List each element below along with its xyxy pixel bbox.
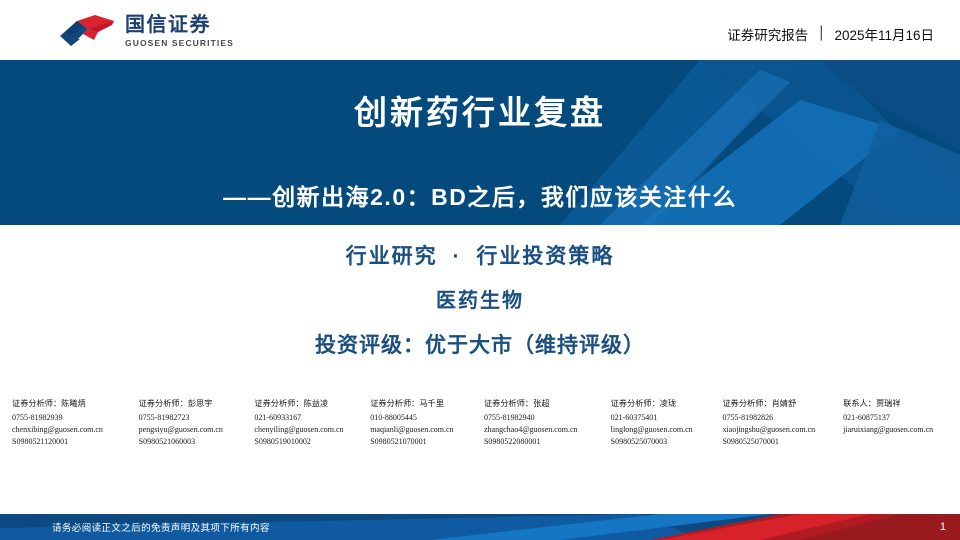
analyst-name: 马千里 xyxy=(419,399,444,408)
analyst-name: 陈曦炳 xyxy=(61,399,86,408)
analyst-role: 证券分析师： xyxy=(254,399,303,408)
analyst-license-code: S0980519010002 xyxy=(254,436,370,448)
analyst-name-line: 证券分析师：彭思宇 xyxy=(139,398,255,411)
analyst-license-code: S0980522080001 xyxy=(484,436,611,448)
investment-rating: 投资评级：优于大市（维持评级） xyxy=(0,329,960,359)
analyst-entry: 证券分析师：彭思宇 0755-81982723 pengsiyu@guosen.… xyxy=(139,398,255,449)
research-type-label: 行业研究 xyxy=(346,245,438,268)
report-type-label: 证券研究报告 xyxy=(727,24,808,44)
analyst-role: 证券分析师： xyxy=(484,399,533,408)
analyst-phone: 0755-81982939 xyxy=(12,412,139,424)
analyst-name-line: 证券分析师：凌珑 xyxy=(611,398,723,411)
analyst-email[interactable]: pengsiyu@guosen.com.cn xyxy=(139,424,255,436)
title-banner: 创新药行业复盘 ——创新出海2.0：BD之后，我们应该关注什么 xyxy=(0,60,960,225)
brand-logo: 国信证券 GUOSEN SECURITIES xyxy=(58,14,234,48)
analyst-entry: 联系人：贾瑞祥 021-60875137 jiaruixiang@guosen.… xyxy=(843,398,952,436)
brand-logo-text: 国信证券 GUOSEN SECURITIES xyxy=(125,15,234,48)
analyst-name: 凌珑 xyxy=(660,399,676,408)
header-divider: | xyxy=(819,24,823,42)
analyst-entry: 证券分析师：张超 0755-81982940 zhangchao4@guosen… xyxy=(484,398,611,449)
analyst-name-line: 联系人：贾瑞祥 xyxy=(843,398,952,411)
analyst-name-line: 证券分析师：张超 xyxy=(484,398,611,411)
guosen-logo-mark-icon xyxy=(58,14,116,48)
page-footer: 请务必阅读正文之后的免责声明及其项下所有内容 1 xyxy=(0,514,960,540)
analyst-role: 证券分析师： xyxy=(722,399,771,408)
analyst-phone: 021-60933167 xyxy=(254,412,370,424)
analyst-email[interactable]: maqianli@guosen.com.cn xyxy=(370,424,484,436)
analyst-entry: 证券分析师：凌珑 021-60375401 linglong@guosen.co… xyxy=(611,398,723,449)
analyst-license-code: S0980525070003 xyxy=(611,436,723,448)
analyst-phone: 010-88005445 xyxy=(370,412,484,424)
analyst-role: 证券分析师： xyxy=(611,399,660,408)
analyst-license-code: S0980521120001 xyxy=(12,436,139,448)
analyst-name: 贾瑞祥 xyxy=(876,399,901,408)
analyst-entry: 证券分析师：马千里 010-88005445 maqianli@guosen.c… xyxy=(370,398,484,449)
analyst-email[interactable]: chenxibing@guosen.com.cn xyxy=(12,424,139,436)
analyst-phone: 0755-81982723 xyxy=(139,412,255,424)
report-date: 2025年11月16日 xyxy=(834,24,934,44)
analyst-email[interactable]: linglong@guosen.com.cn xyxy=(611,424,723,436)
analyst-name: 陈益凌 xyxy=(304,399,329,408)
analyst-role: 证券分析师： xyxy=(370,399,419,408)
analyst-entry: 证券分析师：肖婧舒 0755-81982826 xiaojingshu@guos… xyxy=(722,398,843,449)
analyst-role: 证券分析师： xyxy=(12,399,61,408)
analyst-entry: 证券分析师：陈曦炳 0755-81982939 chenxibing@guose… xyxy=(12,398,139,449)
brand-name-cn: 国信证券 xyxy=(125,15,234,35)
analyst-contact-list: 证券分析师：陈曦炳 0755-81982939 chenxibing@guose… xyxy=(12,398,952,449)
analyst-email[interactable]: chenyiling@guosen.com.cn xyxy=(254,424,370,436)
analyst-email[interactable]: zhangchao4@guosen.com.cn xyxy=(484,424,611,436)
analyst-license-code: S0980521060003 xyxy=(139,436,255,448)
brand-name-en: GUOSEN SECURITIES xyxy=(125,39,234,48)
report-meta-block: 行业研究 · 行业投资策略 医药生物 投资评级：优于大市（维持评级） xyxy=(0,240,960,359)
analyst-name: 张超 xyxy=(533,399,549,408)
meta-separator-dot: · xyxy=(446,245,469,268)
analyst-name-line: 证券分析师：陈曦炳 xyxy=(12,398,139,411)
analyst-name-line: 证券分析师：马千里 xyxy=(370,398,484,411)
analyst-name-line: 证券分析师：肖婧舒 xyxy=(722,398,843,411)
analyst-name-line: 证券分析师：陈益凌 xyxy=(254,398,370,411)
analyst-name: 肖婧舒 xyxy=(772,399,797,408)
header-report-meta: 证券研究报告 | 2025年11月16日 xyxy=(727,24,934,44)
analyst-email[interactable]: jiaruixiang@guosen.com.cn xyxy=(843,424,952,436)
page-header: 国信证券 GUOSEN SECURITIES 证券研究报告 | 2025年11月… xyxy=(0,0,960,60)
analyst-role: 证券分析师： xyxy=(139,399,188,408)
analyst-phone: 0755-81982940 xyxy=(484,412,611,424)
footer-disclaimer: 请务必阅读正文之后的免责声明及其项下所有内容 xyxy=(52,514,270,540)
report-title: 创新药行业复盘 xyxy=(0,86,960,134)
page-number: 1 xyxy=(940,514,946,540)
analyst-entry: 证券分析师：陈益凌 021-60933167 chenyiling@guosen… xyxy=(254,398,370,449)
analyst-phone: 0755-81982826 xyxy=(722,412,843,424)
analyst-license-code: S0980521070001 xyxy=(370,436,484,448)
analyst-role: 联系人： xyxy=(843,399,876,408)
strategy-type-label: 行业投资策略 xyxy=(476,245,614,268)
analyst-phone: 021-60375401 xyxy=(611,412,723,424)
research-category-line: 行业研究 · 行业投资策略 xyxy=(0,240,960,270)
analyst-license-code: S0980525070001 xyxy=(722,436,843,448)
analyst-email[interactable]: xiaojingshu@guosen.com.cn xyxy=(722,424,843,436)
analyst-phone: 021-60875137 xyxy=(843,412,952,424)
report-subtitle: ——创新出海2.0：BD之后，我们应该关注什么 xyxy=(0,178,960,212)
industry-label: 医药生物 xyxy=(0,284,960,313)
analyst-name: 彭思宇 xyxy=(188,399,213,408)
